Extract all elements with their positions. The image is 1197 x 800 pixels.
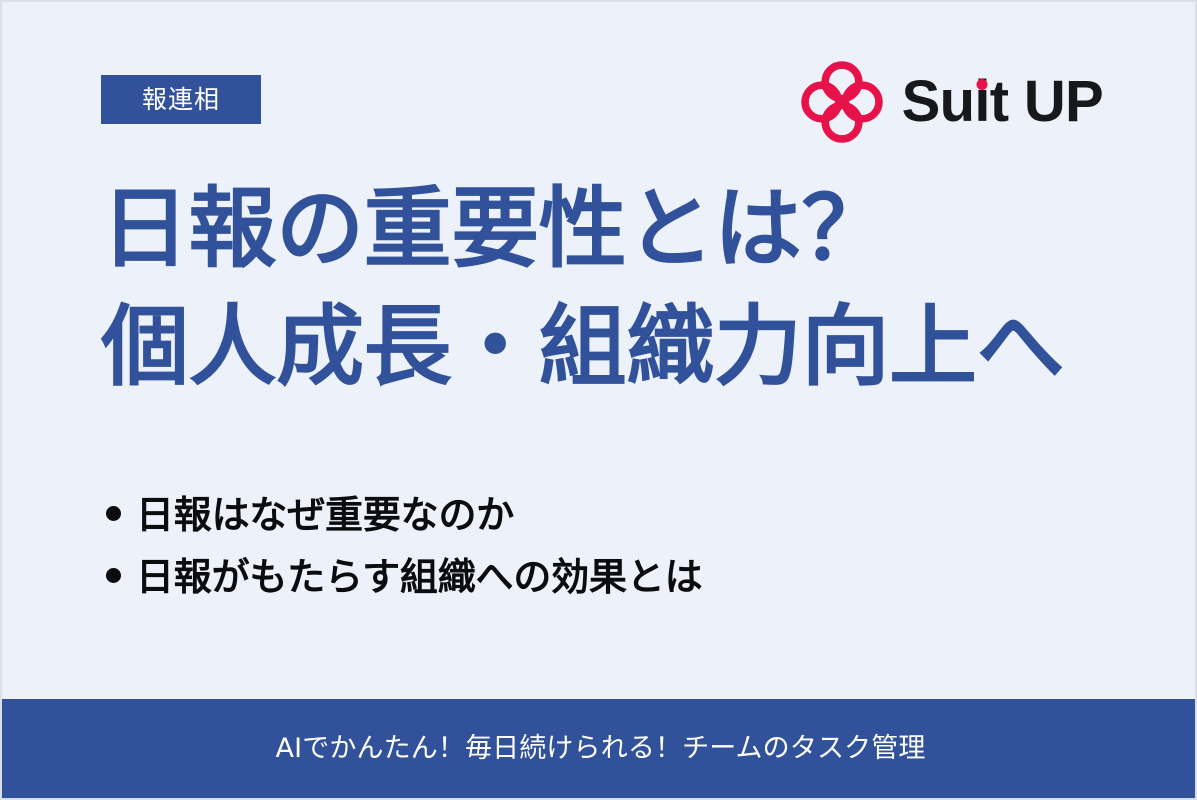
brand-wordmark-i-dot-icon xyxy=(977,79,988,90)
brand-wordmark-part-2: t UP xyxy=(990,69,1103,134)
category-badge-label: 報連相 xyxy=(142,87,220,112)
bullet-item-label: 日報がもたらす組織への効果とは xyxy=(136,552,702,602)
slide-canvas: 報連相 Suit UP 日報の重要性とは？ 個人成長・組織力向上へ xyxy=(0,0,1197,800)
slide-header: 報連相 Suit UP xyxy=(2,2,1197,162)
brand-wordmark: Suit UP xyxy=(902,73,1103,131)
category-badge: 報連相 xyxy=(101,75,261,124)
bullet-marker-icon xyxy=(106,568,121,583)
bullet-list: 日報はなぜ重要なのか 日報がもたらす組織への効果とは xyxy=(106,490,1046,614)
brand-lockup: Suit UP xyxy=(800,60,1103,144)
bullet-item-label: 日報はなぜ重要なのか xyxy=(136,490,514,540)
headline-block: 日報の重要性とは？ 個人成長・組織力向上へ xyxy=(101,170,1121,406)
brand-wordmark-part-1: Su xyxy=(902,69,975,134)
footer-tagline: AIでかんたん！毎日続けられる！チームのタスク管理 xyxy=(276,735,926,762)
headline-line-1: 日報の重要性とは？ xyxy=(101,170,1121,288)
brand-wordmark-letter-i: i xyxy=(974,73,989,131)
footer-banner: AIでかんたん！毎日続けられる！チームのタスク管理 xyxy=(2,699,1197,798)
headline-line-2: 個人成長・組織力向上へ xyxy=(101,288,1121,406)
suit-up-logo-icon xyxy=(800,60,884,144)
list-item: 日報がもたらす組織への効果とは xyxy=(106,552,1046,602)
list-item: 日報はなぜ重要なのか xyxy=(106,490,1046,540)
bullet-marker-icon xyxy=(106,506,121,521)
